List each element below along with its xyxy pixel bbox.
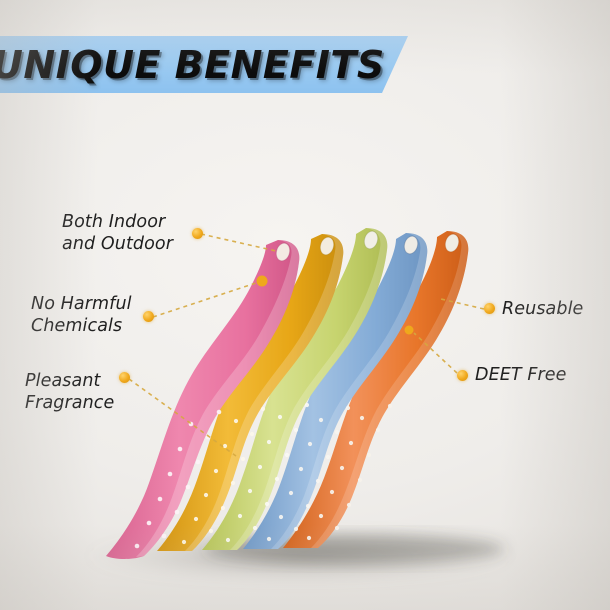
promo-image: UNIQUE BENEFITS Both Indoor and Outdoor … bbox=[0, 0, 610, 610]
callout-dot-deet-free bbox=[457, 370, 468, 381]
callout-label-both-indoor-and-outdoor: Both Indoor and Outdoor bbox=[62, 211, 212, 255]
callout-dot-no-harmful-chemicals bbox=[143, 311, 154, 322]
callout-dot-pleasant-fragrance bbox=[119, 372, 130, 383]
page-title: UNIQUE BENEFITS bbox=[0, 38, 462, 92]
callout-label-pleasant-fragrance: Pleasant Fragrance bbox=[25, 370, 175, 414]
callout-label-reusable: Reusable bbox=[502, 298, 610, 320]
callout-dot-reusable bbox=[484, 303, 495, 314]
callout-dot-both-indoor-and-outdoor bbox=[192, 228, 203, 239]
connector-node-orange bbox=[405, 326, 414, 335]
callout-label-deet-free: DEET Free bbox=[475, 364, 605, 386]
callout-label-no-harmful-chemicals: No Harmful Chemicals bbox=[31, 293, 181, 337]
